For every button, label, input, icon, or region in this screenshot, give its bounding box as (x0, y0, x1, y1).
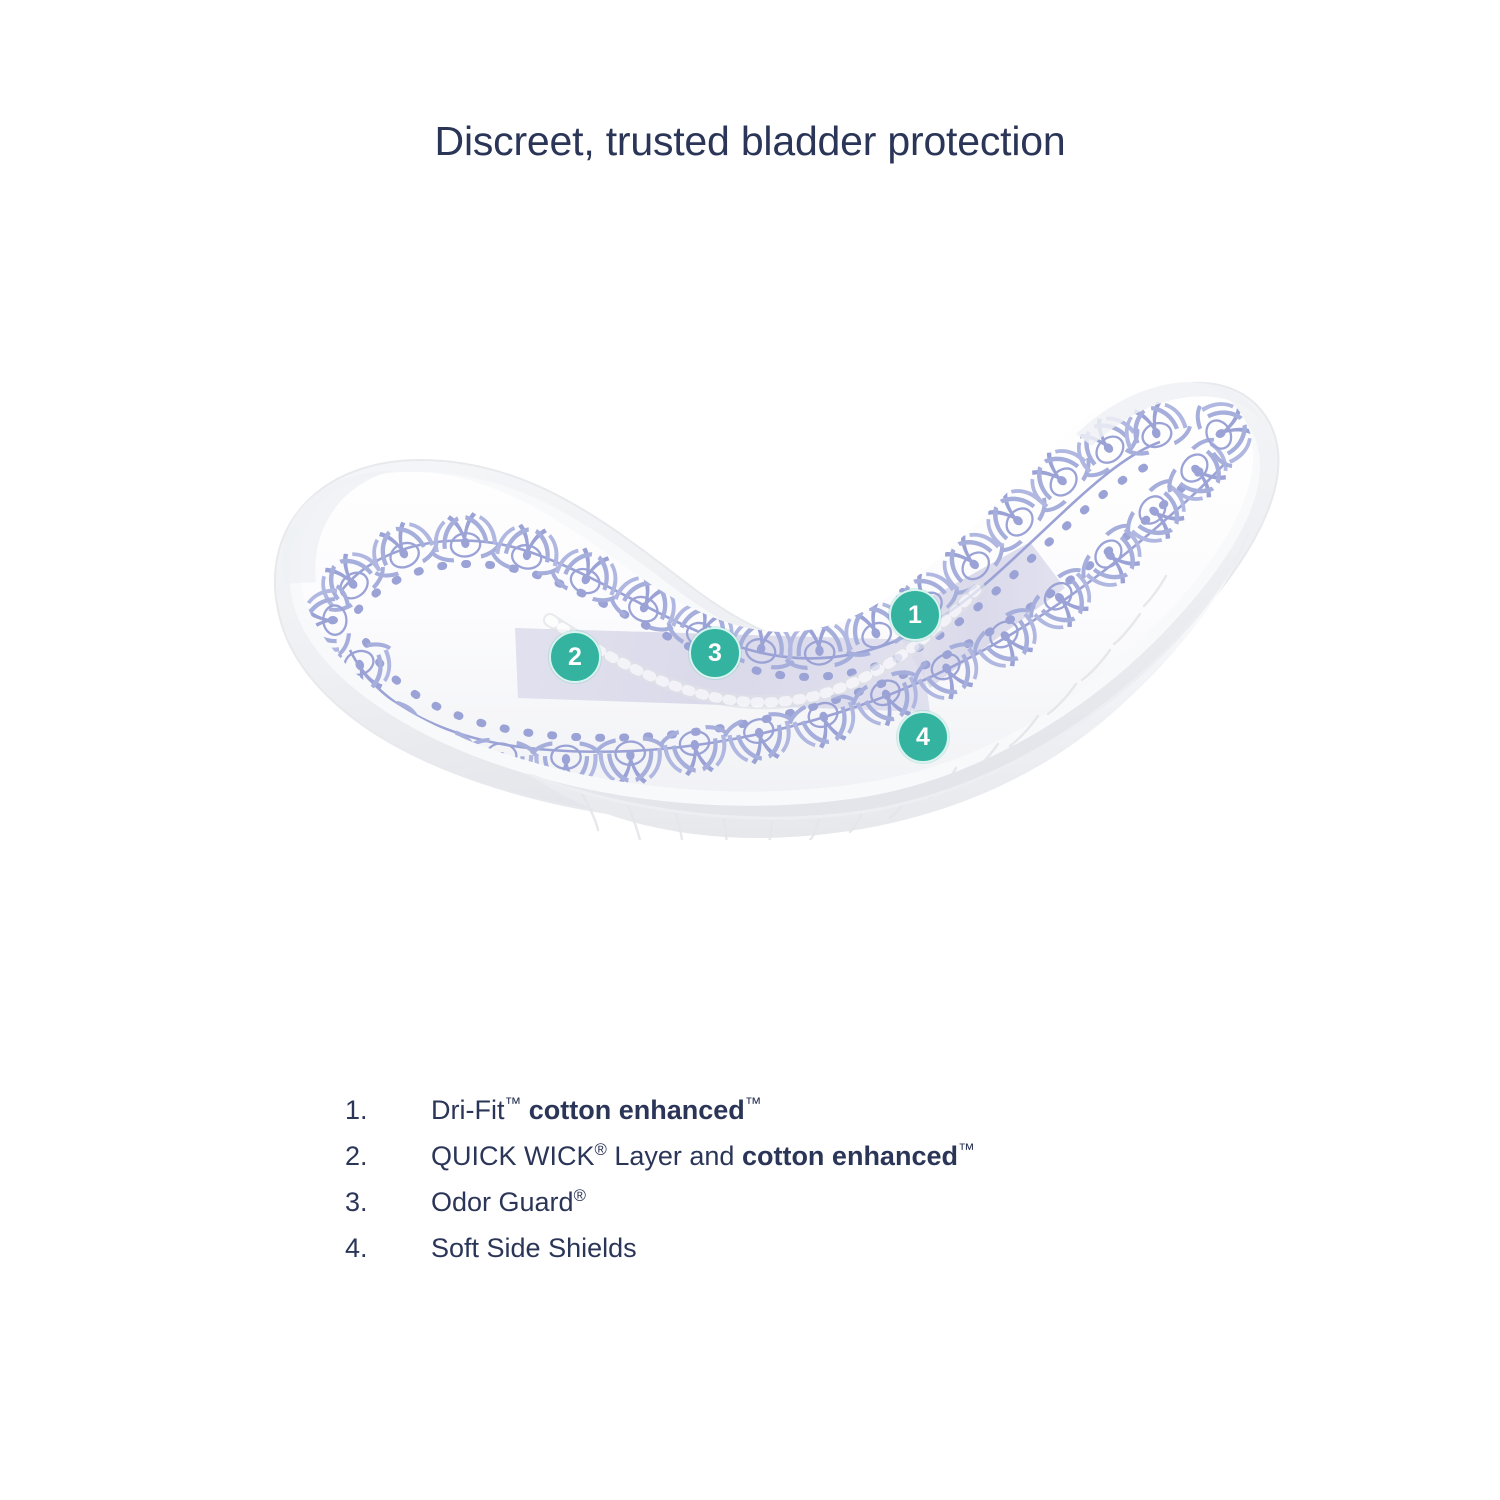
feature-1-trademark-1: ™ (504, 1094, 521, 1113)
feature-4-plain-before: Soft Side Shields (431, 1233, 637, 1263)
product-svg (230, 320, 1290, 840)
feature-label-2: QUICK WICK® Layer and cotton enhanced™ (431, 1141, 975, 1172)
feature-2-mid: Layer and (607, 1141, 742, 1171)
feature-number-2: 2. (345, 1141, 431, 1172)
feature-list: 1. Dri-Fit™ cotton enhanced™ 2. QUICK WI… (345, 1095, 1245, 1279)
feature-item-1: 1. Dri-Fit™ cotton enhanced™ (345, 1095, 1245, 1141)
feature-2-bold: cotton enhanced (742, 1141, 958, 1171)
feature-3-plain-before: Odor Guard (431, 1187, 574, 1217)
callout-badge-3[interactable]: 3 (689, 627, 741, 679)
feature-number-3: 3. (345, 1187, 431, 1218)
feature-1-trademark-2: ™ (745, 1094, 762, 1113)
feature-number-4: 4. (345, 1233, 431, 1264)
feature-number-1: 1. (345, 1095, 431, 1126)
feature-item-3: 3. Odor Guard® (345, 1187, 1245, 1233)
callout-badge-1[interactable]: 1 (889, 589, 941, 641)
feature-item-4: 4. Soft Side Shields (345, 1233, 1245, 1279)
feature-3-registered: ® (574, 1186, 586, 1205)
feature-2-plain-before: QUICK WICK (431, 1141, 595, 1171)
feature-1-plain-before: Dri-Fit (431, 1095, 504, 1125)
feature-1-bold: cotton enhanced (529, 1095, 745, 1125)
feature-2-trademark: ™ (958, 1140, 975, 1159)
callout-badge-4[interactable]: 4 (897, 711, 949, 763)
feature-label-3: Odor Guard® (431, 1187, 586, 1218)
feature-item-2: 2. QUICK WICK® Layer and cotton enhanced… (345, 1141, 1245, 1187)
product-illustration (230, 320, 1290, 840)
feature-2-registered: ® (595, 1140, 607, 1159)
callout-badge-2[interactable]: 2 (549, 631, 601, 683)
feature-label-1: Dri-Fit™ cotton enhanced™ (431, 1095, 761, 1126)
page-title: Discreet, trusted bladder protection (0, 118, 1500, 165)
feature-label-4: Soft Side Shields (431, 1233, 637, 1264)
